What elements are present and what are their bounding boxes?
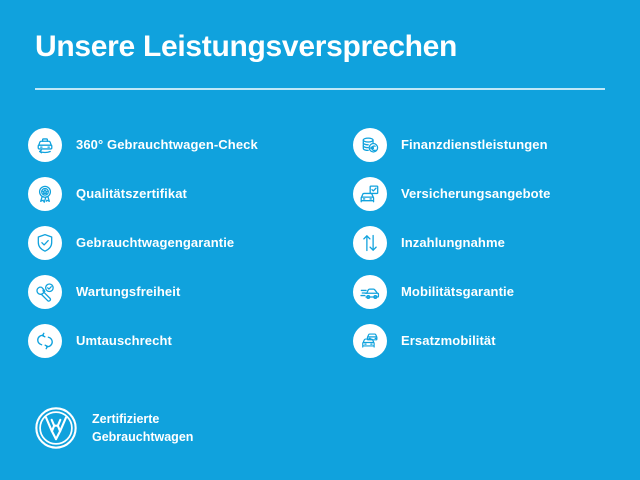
feature-item-qualitaetszertifikat: Qualitätszertifikat (28, 169, 353, 218)
feature-item-ersatzmobilitaet: Ersatzmobilität (353, 316, 640, 365)
car-motion-icon (353, 275, 387, 309)
page-title: Unsere Leistungsversprechen (35, 28, 605, 66)
award-rosette-icon (28, 177, 62, 211)
header: Unsere Leistungsversprechen (35, 28, 605, 66)
car-360-check-icon (28, 128, 62, 162)
shield-check-icon (28, 226, 62, 260)
exchange-arrows-icon (28, 324, 62, 358)
feature-item-inzahlungnahme: Inzahlungnahme (353, 218, 640, 267)
feature-item-mobilitaetsgarantie: Mobilitätsgarantie (353, 267, 640, 316)
feature-label: Finanzdienstleistungen (401, 137, 548, 152)
wrench-check-icon (28, 275, 62, 309)
feature-label: Versicherungsangebote (401, 186, 550, 201)
feature-label: Gebrauchtwagengarantie (76, 235, 234, 250)
feature-label: Wartungsfreiheit (76, 284, 180, 299)
arrows-up-down-icon (353, 226, 387, 260)
feature-label: 360° Gebrauchtwagen-Check (76, 137, 258, 152)
coins-euro-icon (353, 128, 387, 162)
feature-item-versicherungsangebote: Versicherungsangebote (353, 169, 640, 218)
feature-item-umtauschrecht: Umtauschrecht (28, 316, 353, 365)
feature-label: Umtauschrecht (76, 333, 172, 348)
feature-label: Qualitätszertifikat (76, 186, 187, 201)
promo-poster: Unsere Leistungsversprechen 360° Gebrauc… (0, 0, 640, 480)
feature-item-gebrauchtwagengarantie: Gebrauchtwagengarantie (28, 218, 353, 267)
car-document-icon (353, 177, 387, 211)
brand-footer: Zertifizierte Gebrauchtwagen (33, 405, 193, 451)
brand-line-1: Zertifizierte (92, 410, 193, 428)
feature-grid: 360° Gebrauchtwagen-Check Finanzdienstle… (0, 120, 640, 365)
brand-text: Zertifizierte Gebrauchtwagen (92, 410, 193, 446)
feature-item-wartungsfreiheit: Wartungsfreiheit (28, 267, 353, 316)
volkswagen-logo-icon (33, 405, 79, 451)
two-cars-icon (353, 324, 387, 358)
feature-item-finanzdienstleistungen: Finanzdienstleistungen (353, 120, 640, 169)
feature-label: Mobilitätsgarantie (401, 284, 514, 299)
brand-line-2: Gebrauchtwagen (92, 428, 193, 446)
feature-label: Ersatzmobilität (401, 333, 496, 348)
header-divider (35, 88, 605, 90)
feature-label: Inzahlungnahme (401, 235, 505, 250)
feature-item-360-gebrauchtwagen-check: 360° Gebrauchtwagen-Check (28, 120, 353, 169)
